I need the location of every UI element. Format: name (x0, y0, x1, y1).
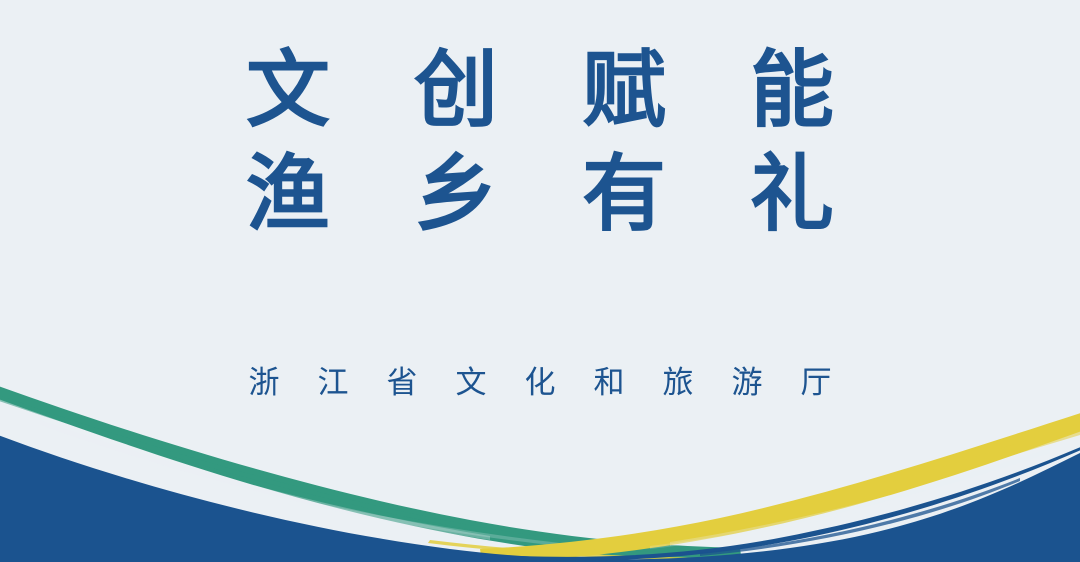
yellow-brush-stroke (428, 410, 1080, 562)
poster-canvas: 文创赋能 渔乡有礼 浙江省文化和旅游厅 (0, 0, 1080, 562)
poster-subtitle-organization: 浙江省文化和旅游厅 (0, 366, 1080, 400)
poster-title-line-1: 文创赋能 (0, 40, 1080, 144)
blue-wave-fill (0, 432, 1080, 562)
green-brush-stroke (0, 383, 742, 562)
poster-title-line-2: 渔乡有礼 (0, 144, 1080, 248)
title-block: 文创赋能 渔乡有礼 浙江省文化和旅游厅 (0, 0, 1080, 400)
